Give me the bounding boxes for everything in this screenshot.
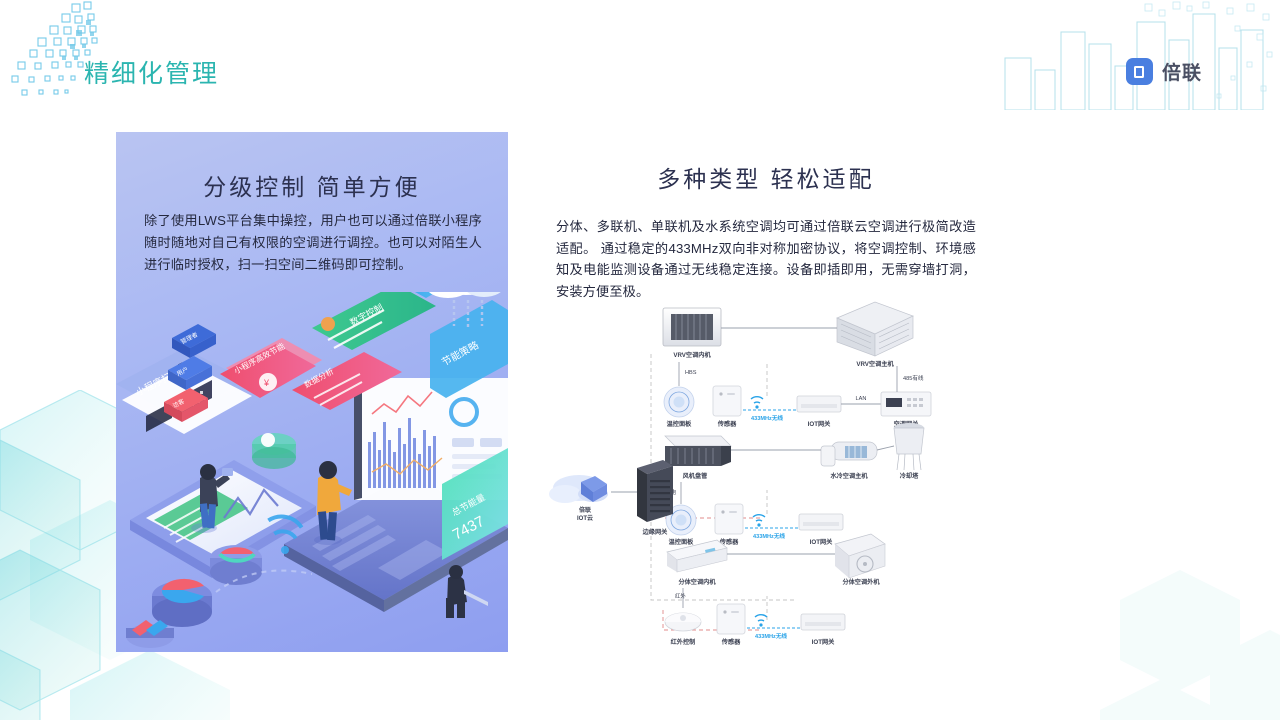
right-panel-title: 多种类型 轻松适配 [556, 160, 976, 194]
vrv-wireless-label: 433MHz无线 [751, 414, 783, 422]
city-skyline-decoration-icon [995, 0, 1280, 110]
illus-energy-icon: ¥ [263, 378, 270, 388]
fancoil-icon [665, 436, 731, 466]
edge-gateway-icon [637, 460, 673, 522]
vrv-outdoor-unit-icon [837, 302, 913, 356]
illus-person-seated [446, 565, 488, 618]
water-wireless-icon [753, 515, 765, 527]
split-ir-label: 红外 [675, 592, 686, 600]
split-outdoor-icon [835, 534, 885, 578]
vrv-sensor-icon [713, 386, 741, 416]
isometric-smart-control-illustration: 小程序扫码调控 管理者 [116, 292, 508, 652]
hexagon-pattern-right-decoration-icon [1080, 540, 1280, 720]
air-conditioner-adaptation-topology: VRV空调内机 VRV空调主机 [545, 300, 945, 650]
split-wireless-icon [755, 615, 767, 627]
split-sensor-icon [717, 604, 745, 634]
brand-name: 倍联 [1162, 58, 1202, 85]
split-outdoor-label: 分体空调外机 [842, 578, 880, 586]
split-sensor-label: 传感器 [721, 638, 741, 646]
water-panel-label: 温控面板 [669, 538, 695, 546]
vrv-indoor-unit-label: VRV空调内机 [673, 351, 711, 359]
split-iot-gateway-icon [801, 614, 845, 630]
vrv-panel-label: 温控面板 [667, 420, 693, 428]
cooling-tower-icon [894, 423, 924, 470]
diagram-row-vrv: VRV空调内机 VRV空调主机 [663, 302, 931, 428]
cooling-tower-label: 冷却塔 [900, 472, 919, 480]
diagram-row-split: 分体空调内机 分体空调外机 红外 红外控制 [665, 534, 885, 646]
vrv-485-label: 485有线 [903, 374, 924, 382]
water-wireless-label: 433MHz无线 [753, 532, 785, 540]
water-iot-gateway-label: IOT网关 [810, 538, 833, 546]
left-card-title: 分级控制 简单方便 [116, 168, 508, 202]
vrv-iot-gateway-icon [797, 396, 841, 412]
diagram-row-water: 风机盘管 水冷空调主机 [665, 423, 924, 546]
split-iot-gateway-label: IOT网关 [812, 638, 835, 646]
vrv-hbs-label: HBS [685, 370, 697, 376]
water-iot-gateway-icon [799, 514, 843, 530]
right-panel-body: 分体、多联机、单联机及水系统空调均可通过倍联云空调进行极简改造适配。 通过稳定的… [556, 216, 976, 302]
vrv-thermostat-icon [664, 387, 694, 417]
cloud-label-line1: 倍联 [579, 506, 591, 514]
vrv-wireless-icon [751, 397, 763, 409]
iot-cloud-icon [549, 475, 608, 503]
fancoil-label: 风机盘管 [683, 472, 708, 480]
ir-controller-label: 红外控制 [671, 638, 696, 646]
split-indoor-label: 分体空调内机 [678, 578, 716, 586]
edge-gateway-label: 边缘网关 [642, 528, 669, 536]
brand-logo: 倍联 [1126, 58, 1202, 85]
vrv-sensor-label: 传感器 [717, 420, 737, 428]
vrv-lan-label: LAN [856, 396, 867, 402]
water-chiller-icon [821, 442, 877, 466]
square-logo-icon [1126, 58, 1153, 85]
left-card-body: 除了使用LWS平台集中操控，用户也可以通过倍联小程序随时随地对自己有权限的空调进… [144, 210, 482, 276]
split-wireless-label: 433MHz无线 [755, 632, 787, 640]
left-feature-card: 分级控制 简单方便 除了使用LWS平台集中操控，用户也可以通过倍联小程序随时随地… [116, 132, 508, 652]
right-feature-panel: 多种类型 轻松适配 分体、多联机、单联机及水系统空调均可通过倍联云空调进行极简改… [556, 132, 976, 302]
slide-canvas: 精细化管理 倍联 分级控制 简单方便 除了使用LWS平台集中操控，用户也可以通过… [0, 0, 1280, 720]
vrv-outdoor-unit-label: VRV空调主机 [856, 360, 894, 368]
cloud-label-line2: IOT云 [577, 515, 593, 522]
chiller-label: 水冷空调主机 [830, 472, 868, 480]
vrv-ac-gateway-icon [881, 392, 931, 416]
ir-controller-icon [665, 613, 701, 631]
vrv-iot-gateway-label: IOT网关 [808, 420, 831, 428]
water-sensor-icon [715, 504, 743, 534]
vrv-indoor-unit-icon [663, 308, 721, 346]
page-title: 精细化管理 [84, 54, 219, 90]
